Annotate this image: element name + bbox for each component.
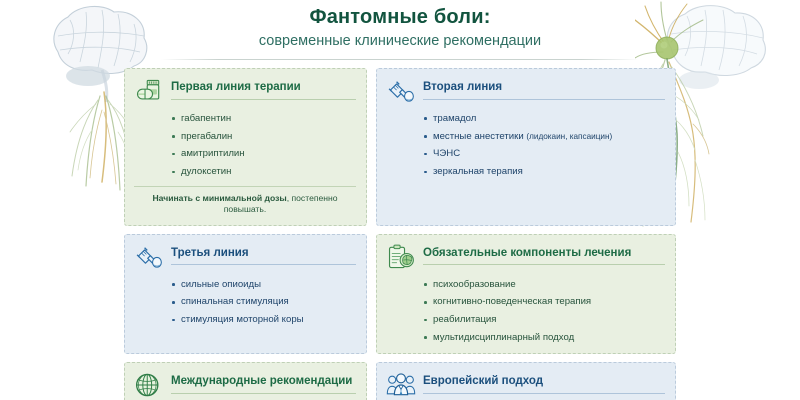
list-item: трамадол [424, 113, 665, 125]
footnote-emphasis: Начинать с минимальной дозы [152, 193, 286, 203]
syringe-icon [386, 77, 416, 105]
header-divider [161, 59, 639, 60]
card-title: Третья линия [171, 247, 356, 261]
page-title: Фантомные боли: [0, 5, 800, 30]
list-item: мультидисциплинарный подход [424, 332, 665, 344]
card-title: Международные рекомендации [171, 375, 356, 389]
card-mandatory-components[interactable]: Обязательные компоненты лечения психообр… [376, 234, 676, 355]
list-item: дулоксетин [172, 166, 356, 178]
card-header: Третья линия [134, 243, 356, 275]
bullet-list: габапентин прегабалин амитриптилин дулок… [134, 113, 356, 179]
list-item: спинальная стимуляция [172, 296, 356, 308]
title-underline [423, 393, 665, 394]
list-item-note: (лидокаин, капсаицин) [526, 132, 612, 141]
list-item: местные анестетики (лидокаин, капсаицин) [424, 131, 665, 143]
list-item: ЧЭНС [424, 148, 665, 160]
card-header: Вторая линия [386, 77, 665, 109]
bullet-list: психообразование когнитивно-поведенческа… [386, 279, 665, 345]
list-item: стимуляция моторной коры [172, 314, 356, 326]
title-underline [423, 99, 665, 100]
card-international-recommendations[interactable]: Международные рекомендации раннее начало… [124, 362, 367, 400]
card-title: Первая линия терапии [171, 81, 356, 95]
card-header: Обязательные компоненты лечения [386, 243, 665, 275]
clipboard-brain-icon [386, 243, 416, 271]
recommendation-cards-grid: Первая линия терапии габапентин прегабал… [124, 68, 676, 400]
card-second-line[interactable]: Вторая линия трамадол местные анестетики… [376, 68, 676, 226]
bullet-list: сильные опиоиды спинальная стимуляция ст… [134, 279, 356, 327]
card-header: Международные рекомендации [134, 371, 356, 400]
list-item: габапентин [172, 113, 356, 125]
card-title: Обязательные компоненты лечения [423, 247, 665, 261]
list-item: когнитивно-поведенческая терапия [424, 296, 665, 308]
bullet-list: трамадол местные анестетики (лидокаин, к… [386, 113, 665, 179]
page-subtitle: современные клинические рекомендации [0, 31, 800, 53]
list-item: амитриптилин [172, 148, 356, 160]
card-title: Вторая линия [423, 81, 665, 95]
card-footnote: Начинать с минимальной дозы, постепенно … [134, 186, 356, 215]
list-item: прегабалин [172, 131, 356, 143]
list-item: зеркальная терапия [424, 166, 665, 178]
card-title: Европейский подход [423, 375, 665, 389]
syringe-icon [134, 243, 164, 271]
title-underline [171, 393, 356, 394]
card-header: Первая линия терапии [134, 77, 356, 109]
list-item: психообразование [424, 279, 665, 291]
card-first-line-therapy[interactable]: Первая линия терапии габапентин прегабал… [124, 68, 367, 226]
title-underline [171, 264, 356, 265]
title-underline [171, 99, 356, 100]
pill-bottle-icon [134, 77, 164, 105]
title-underline [423, 264, 665, 265]
globe-icon [134, 371, 164, 399]
card-european-approach[interactable]: Европейский подход команда специалистов … [376, 362, 676, 400]
list-item: реабилитация [424, 314, 665, 326]
card-header: Европейский подход [386, 371, 665, 400]
list-item: сильные опиоиды [172, 279, 356, 291]
page-header: Фантомные боли: современные клинические … [0, 0, 800, 60]
medical-team-icon [386, 371, 416, 399]
card-third-line[interactable]: Третья линия сильные опиоиды спинальная … [124, 234, 367, 355]
